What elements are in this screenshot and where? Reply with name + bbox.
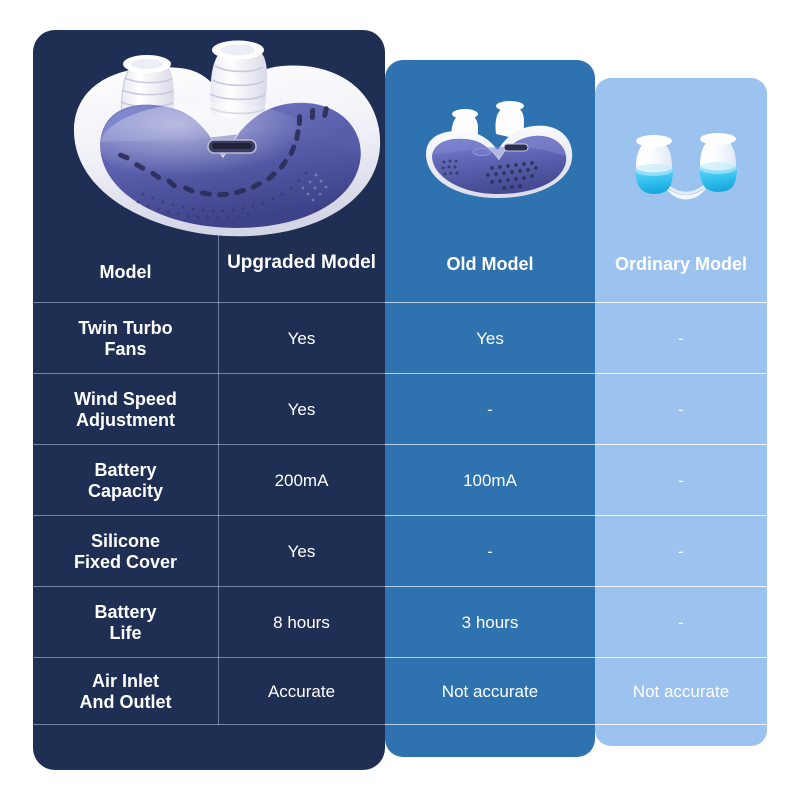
column-header-ordinary: Ordinary Model: [595, 232, 767, 303]
row-label-line1: Air Inlet: [92, 671, 159, 691]
cell-ordinary: -: [595, 587, 767, 658]
comparison-infographic: Model Upgraded Model Old Model Ordinary …: [0, 0, 800, 800]
row-label-line2: And Outlet: [80, 692, 172, 712]
cell-old: -: [385, 374, 595, 445]
cell-old: Not accurate: [385, 658, 595, 725]
row-label: Twin Turbo Fans: [33, 303, 218, 374]
cell-ordinary: -: [595, 445, 767, 516]
row-label-line2: Fixed Cover: [74, 552, 177, 572]
row-label-line2: Adjustment: [76, 410, 175, 430]
table-row: Wind Speed Adjustment Yes - -: [33, 374, 767, 445]
cell-upgraded: Yes: [218, 303, 385, 374]
cell-ordinary: -: [595, 374, 767, 445]
row-label-line2: Capacity: [88, 481, 163, 501]
cell-upgraded: 200mA: [218, 445, 385, 516]
cell-ordinary: Not accurate: [595, 658, 767, 725]
row-label: Wind Speed Adjustment: [33, 374, 218, 445]
row-label-line1: Battery: [94, 460, 156, 480]
cell-old: -: [385, 516, 595, 587]
table-row: Air Inlet And Outlet Accurate Not accura…: [33, 658, 767, 725]
row-label: Air Inlet And Outlet: [33, 658, 218, 725]
row-label: Battery Capacity: [33, 445, 218, 516]
cell-upgraded: 8 hours: [218, 587, 385, 658]
old-model-device-image: [418, 96, 580, 214]
cell-old: 100mA: [385, 445, 595, 516]
table-row: Silicone Fixed Cover Yes - -: [33, 516, 767, 587]
column-header-feature: Model: [33, 232, 218, 303]
cell-old: Yes: [385, 303, 595, 374]
cell-ordinary: -: [595, 516, 767, 587]
row-label-line1: Wind Speed: [74, 389, 177, 409]
row-label-line1: Twin Turbo: [78, 318, 172, 338]
cell-upgraded: Accurate: [218, 658, 385, 725]
row-label: Silicone Fixed Cover: [33, 516, 218, 587]
row-label: Battery Life: [33, 587, 218, 658]
upgraded-model-device-image: [60, 36, 390, 251]
cell-upgraded: Yes: [218, 516, 385, 587]
cell-ordinary: -: [595, 303, 767, 374]
comparison-table: Model Upgraded Model Old Model Ordinary …: [33, 232, 767, 725]
table-row: Twin Turbo Fans Yes Yes -: [33, 303, 767, 374]
cell-old: 3 hours: [385, 587, 595, 658]
column-header-old: Old Model: [385, 232, 595, 303]
column-header-upgraded: Upgraded Model: [218, 232, 385, 303]
ordinary-model-device-image: [612, 128, 760, 214]
table-row: Battery Capacity 200mA 100mA -: [33, 445, 767, 516]
row-label-line1: Silicone: [91, 531, 160, 551]
row-label-line1: Battery: [94, 602, 156, 622]
table-vertical-divider: [218, 232, 219, 725]
row-label-line2: Fans: [104, 339, 146, 359]
table-header-row: Model Upgraded Model Old Model Ordinary …: [33, 232, 767, 303]
cell-upgraded: Yes: [218, 374, 385, 445]
table-row: Battery Life 8 hours 3 hours -: [33, 587, 767, 658]
row-label-line2: Life: [109, 623, 141, 643]
